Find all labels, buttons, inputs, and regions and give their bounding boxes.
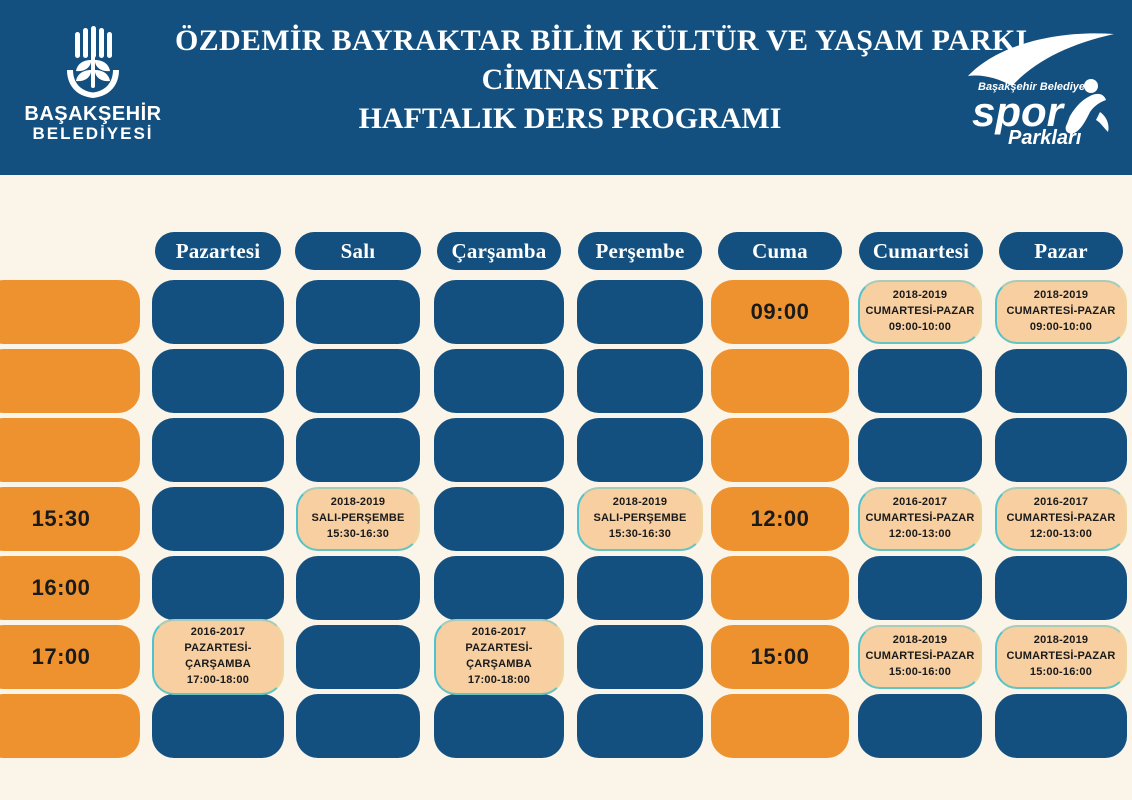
empty-cell bbox=[434, 556, 564, 620]
empty-cell bbox=[434, 280, 564, 344]
class-session-line: 15:00-16:00 bbox=[1030, 665, 1092, 681]
class-session-line: 15:30-16:30 bbox=[609, 527, 671, 543]
empty-cell bbox=[858, 694, 982, 758]
empty-cell bbox=[152, 280, 284, 344]
class-session-cell[interactable]: 2018-2019CUMARTESİ-PAZAR09:00-10:00 bbox=[995, 280, 1127, 344]
class-session-line: CUMARTESİ-PAZAR bbox=[865, 304, 974, 320]
class-session-cell[interactable]: 2018-2019CUMARTESİ-PAZAR15:00-16:00 bbox=[995, 625, 1127, 689]
class-session-line: 09:00-10:00 bbox=[1030, 320, 1092, 336]
wheat-hand-icon bbox=[55, 26, 131, 100]
spor-parklari-swoosh-athlete-icon: Başakşehir Belediyesi spor Parkları bbox=[950, 28, 1120, 156]
day-header-salı: Salı bbox=[295, 232, 421, 270]
class-session-line: 2018-2019 bbox=[1034, 633, 1088, 649]
row-time-label: 17:00 bbox=[0, 625, 140, 689]
row-time-label: 16:00 bbox=[0, 556, 140, 620]
class-session-cell[interactable]: 2016-2017PAZARTESİ-ÇARŞAMBA17:00-18:00 bbox=[434, 619, 564, 695]
empty-cell bbox=[152, 694, 284, 758]
class-session-line: 15:30-16:30 bbox=[327, 527, 389, 543]
class-session-line: 17:00-18:00 bbox=[187, 673, 249, 689]
class-session-line: 2018-2019 bbox=[893, 633, 947, 649]
title-line-2: CİMNASTİK bbox=[175, 60, 965, 99]
row-time-label: 15:30 bbox=[0, 487, 140, 551]
empty-cell bbox=[152, 556, 284, 620]
class-session-line: CUMARTESİ-PAZAR bbox=[865, 649, 974, 665]
class-session-line: 12:00-13:00 bbox=[889, 527, 951, 543]
class-session-line: CUMARTESİ-PAZAR bbox=[1006, 649, 1115, 665]
class-session-line: 12:00-13:00 bbox=[1030, 527, 1092, 543]
class-session-cell[interactable]: 2018-2019CUMARTESİ-PAZAR15:00-16:00 bbox=[858, 625, 982, 689]
empty-cell bbox=[296, 694, 420, 758]
empty-cell bbox=[434, 694, 564, 758]
class-session-line: CUMARTESİ-PAZAR bbox=[1006, 304, 1115, 320]
day-header-cuma: Cuma bbox=[718, 232, 842, 270]
class-session-line: PAZARTESİ- bbox=[184, 641, 251, 657]
empty-cell bbox=[434, 418, 564, 482]
empty-cell bbox=[577, 694, 703, 758]
class-session-line: 2016-2017 bbox=[472, 625, 526, 641]
empty-cell bbox=[577, 556, 703, 620]
class-session-line: 2018-2019 bbox=[893, 288, 947, 304]
day-header-pazar: Pazar bbox=[999, 232, 1123, 270]
empty-cell bbox=[858, 349, 982, 413]
schedule-rows: 09:002018-2019CUMARTESİ-PAZAR09:00-10:00… bbox=[0, 280, 1132, 763]
empty-cell bbox=[858, 556, 982, 620]
logo-left-line2: BELEDİYESİ bbox=[32, 125, 153, 144]
row-time-placeholder bbox=[0, 280, 140, 344]
schedule-row bbox=[0, 694, 1132, 762]
class-session-line: SALI-PERŞEMBE bbox=[593, 511, 686, 527]
empty-cell bbox=[577, 280, 703, 344]
schedule-row: 09:002018-2019CUMARTESİ-PAZAR09:00-10:00… bbox=[0, 280, 1132, 348]
empty-cell bbox=[296, 556, 420, 620]
class-session-line: 2018-2019 bbox=[613, 495, 667, 511]
empty-cell bbox=[296, 280, 420, 344]
class-session-line: ÇARŞAMBA bbox=[466, 657, 532, 673]
class-session-line: 2016-2017 bbox=[1034, 495, 1088, 511]
day-header-pazartesi: Pazartesi bbox=[155, 232, 281, 270]
schedule-row bbox=[0, 418, 1132, 486]
schedule-row: 16:00 bbox=[0, 556, 1132, 624]
class-session-line: PAZARTESİ- bbox=[465, 641, 532, 657]
class-session-cell[interactable]: 2018-2019SALI-PERŞEMBE15:30-16:30 bbox=[296, 487, 420, 551]
spor-parklari-logo: Başakşehir Belediyesi spor Parkları bbox=[950, 28, 1120, 156]
class-session-line: 2016-2017 bbox=[893, 495, 947, 511]
empty-cell bbox=[995, 556, 1127, 620]
class-session-cell[interactable]: 2018-2019CUMARTESİ-PAZAR09:00-10:00 bbox=[858, 280, 982, 344]
empty-highlight-cell bbox=[711, 556, 849, 620]
row-time-placeholder bbox=[0, 694, 140, 758]
class-session-line: 15:00-16:00 bbox=[889, 665, 951, 681]
empty-highlight-cell bbox=[711, 349, 849, 413]
empty-cell bbox=[858, 418, 982, 482]
basaksehir-belediyesi-logo: BAŞAKŞEHİR BELEDİYESİ bbox=[18, 26, 168, 158]
schedule-row: 17:002016-2017PAZARTESİ-ÇARŞAMBA17:00-18… bbox=[0, 625, 1132, 693]
schedule-row bbox=[0, 349, 1132, 417]
empty-cell bbox=[577, 418, 703, 482]
poster-header: BAŞAKŞEHİR BELEDİYESİ ÖZDEMİR BAYRAKTAR … bbox=[0, 0, 1132, 175]
empty-cell bbox=[995, 349, 1127, 413]
row-time-placeholder bbox=[0, 418, 140, 482]
class-session-cell[interactable]: 2016-2017CUMARTESİ-PAZAR12:00-13:00 bbox=[858, 487, 982, 551]
empty-cell bbox=[296, 349, 420, 413]
class-session-line: 17:00-18:00 bbox=[468, 673, 530, 689]
poster-title: ÖZDEMİR BAYRAKTAR BİLİM KÜLTÜR VE YAŞAM … bbox=[175, 22, 965, 138]
weekly-schedule-grid: PazartesiSalıÇarşambaPerşembeCumaCumarte… bbox=[0, 175, 1132, 800]
empty-cell bbox=[152, 418, 284, 482]
logo-left-line1: BAŞAKŞEHİR bbox=[24, 104, 161, 125]
class-session-cell[interactable]: 2016-2017CUMARTESİ-PAZAR12:00-13:00 bbox=[995, 487, 1127, 551]
title-line-1: ÖZDEMİR BAYRAKTAR BİLİM KÜLTÜR VE YAŞAM … bbox=[175, 22, 965, 60]
empty-cell bbox=[577, 349, 703, 413]
class-session-line: 2018-2019 bbox=[331, 495, 385, 511]
title-line-3: HAFTALIK DERS PROGRAMI bbox=[175, 99, 965, 138]
empty-cell bbox=[577, 625, 703, 689]
empty-cell bbox=[152, 487, 284, 551]
empty-cell bbox=[995, 418, 1127, 482]
time-slot-cell: 15:00 bbox=[711, 625, 849, 689]
class-session-line: 2018-2019 bbox=[1034, 288, 1088, 304]
schedule-row: 15:302018-2019SALI-PERŞEMBE15:30-16:3020… bbox=[0, 487, 1132, 555]
class-session-line: CUMARTESİ-PAZAR bbox=[1006, 511, 1115, 527]
empty-cell bbox=[152, 349, 284, 413]
row-time-placeholder bbox=[0, 349, 140, 413]
time-slot-cell: 09:00 bbox=[711, 280, 849, 344]
empty-cell bbox=[296, 418, 420, 482]
day-header-cumartesi: Cumartesi bbox=[859, 232, 983, 270]
day-header-perşembe: Perşembe bbox=[578, 232, 702, 270]
time-slot-cell: 12:00 bbox=[711, 487, 849, 551]
empty-highlight-cell bbox=[711, 694, 849, 758]
class-session-line: ÇARŞAMBA bbox=[185, 657, 251, 673]
class-session-cell[interactable]: 2018-2019SALI-PERŞEMBE15:30-16:30 bbox=[577, 487, 703, 551]
day-header-çarşamba: Çarşamba bbox=[437, 232, 561, 270]
empty-cell bbox=[434, 349, 564, 413]
class-session-line: 2016-2017 bbox=[191, 625, 245, 641]
class-session-line: 09:00-10:00 bbox=[889, 320, 951, 336]
empty-highlight-cell bbox=[711, 418, 849, 482]
empty-cell bbox=[296, 625, 420, 689]
class-session-line: SALI-PERŞEMBE bbox=[311, 511, 404, 527]
day-header-row: PazartesiSalıÇarşambaPerşembeCumaCumarte… bbox=[0, 232, 1132, 272]
class-session-line: CUMARTESİ-PAZAR bbox=[865, 511, 974, 527]
empty-cell bbox=[434, 487, 564, 551]
class-session-cell[interactable]: 2016-2017PAZARTESİ-ÇARŞAMBA17:00-18:00 bbox=[152, 619, 284, 695]
svg-text:Parkları: Parkları bbox=[1008, 127, 1082, 149]
empty-cell bbox=[995, 694, 1127, 758]
